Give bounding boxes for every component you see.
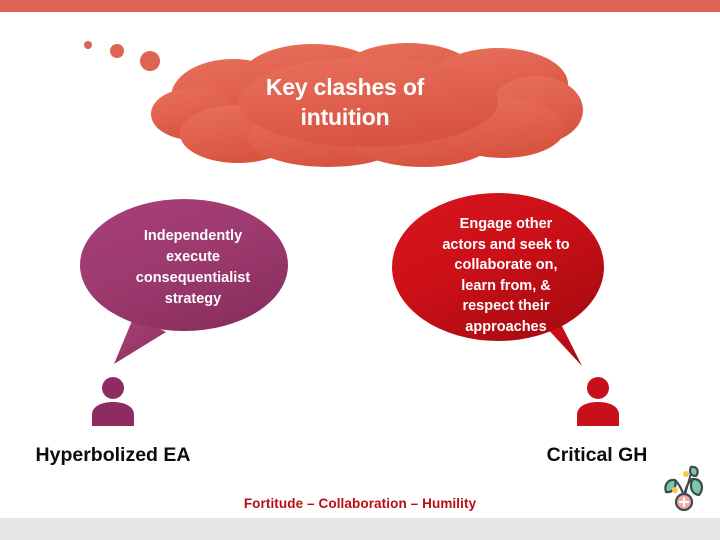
bottom-accent-band [0,518,720,540]
slide-canvas: Key clashes of intuition Independently e… [0,0,720,540]
thought-dot-medium [110,44,124,58]
right-bubble-text: Engage other actors and seek to collabor… [411,214,601,337]
left-bubble-text: Independently execute consequentialist s… [108,226,278,310]
sprout-logo-icon [657,459,711,513]
top-accent-band [0,0,720,12]
cloud-title-text: Key clashes of intuition [200,72,490,132]
footer-tagline: Fortitude – Collaboration – Humility [0,496,720,511]
person-label-hyperbolized-ea: Hyperbolized EA [13,444,213,467]
person-icon-critical-gh [573,376,623,426]
thought-dot-small [84,41,92,49]
person-icon-hyperbolized-ea [88,376,138,426]
